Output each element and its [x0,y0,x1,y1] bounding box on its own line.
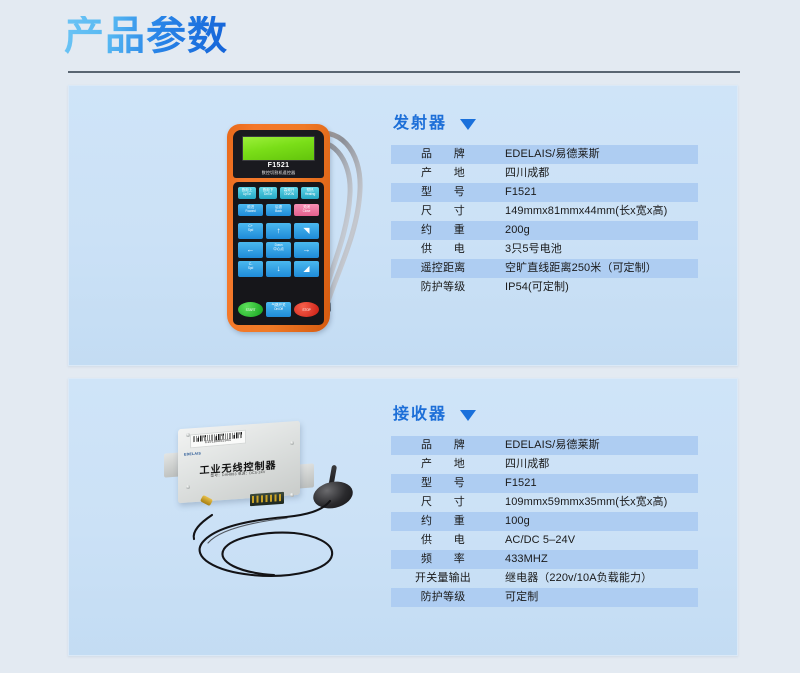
remote-model-text: F1521 [268,162,290,169]
transmitter-heading-text: 发射器 [393,116,447,132]
table-row: 产地 四川成都 [391,164,698,183]
key-close[interactable]: 关闭 Close [294,204,319,216]
key-label-en: Spd [238,228,263,232]
stop-label: STOP [294,303,319,317]
spec-key: 供电 [391,240,495,259]
spec-value: 可定制 [495,588,698,607]
spec-key: 防护等级 [391,588,495,607]
table-row: 产地 四川成都 [391,455,698,474]
spec-key: 品牌 [391,436,495,455]
table-row: 型号 F1521 [391,474,698,493]
receiver-device-image: E19100002941 EDELAIS 工业无线控制器 型号：DAH883 电… [154,419,394,609]
table-row: 防护等级 可定制 [391,588,698,607]
spec-key: 防护等级 [391,278,495,297]
spec-key: 约重 [391,512,495,531]
key-label-en: Heating [301,192,319,196]
key-diag-up-right[interactable]: ◥ [294,223,319,239]
table-row: 供电 AC/DC 5–24V [391,531,698,550]
spec-value: F1521 [495,183,698,202]
receiver-heading-text: 接收器 [393,407,447,423]
receiver-spec-block: 接收器 品牌 EDELAIS/易德莱斯 产地 四川成都 型号 F1521 尺寸 [391,407,721,607]
triangle-down-icon [460,119,476,130]
spec-value: 四川成都 [495,455,698,474]
arrow-left-icon: ← [238,243,263,257]
spec-key: 供电 [391,531,495,550]
arrow-right-icon: → [294,243,319,257]
key-label-en: Back [266,209,291,213]
key-forward[interactable]: 前进 Foward [238,204,263,216]
spec-key: 型号 [391,474,495,493]
page-header: 产品参数 [0,0,800,85]
spec-value: F1521 [495,474,698,493]
start-label: START [238,303,263,317]
table-row: 尺寸 149mmx81mmx44mm(长x宽x高) [391,202,698,221]
remote-display-bezel: F1521 数控切割机遥控器 [233,130,324,178]
table-row: 供电 3只5号电池 [391,240,698,259]
receiver-heading: 接收器 [391,407,721,423]
key-arrow-down[interactable]: ↓ [266,261,291,277]
key-arrow-left[interactable]: ← [238,242,263,258]
spec-value: 四川成都 [495,164,698,183]
transmitter-panel: F1521 数控切割机遥控器 割炬上 UpTor 割炬下 DnTor [68,85,738,366]
start-button[interactable]: START [238,302,263,317]
spec-value: EDELAIS/易德莱斯 [495,436,698,455]
spec-key: 型号 [391,183,495,202]
arrow-up-icon: ↑ [266,224,291,238]
diagonal-down-icon: ◢ [294,262,319,276]
table-row: 尺寸 109mmx59mmx35mm(长x宽x高) [391,493,698,512]
remote-body: F1521 数控切割机遥控器 割炬上 UpTor 割炬下 DnTor [227,124,330,332]
key-diag-down-right[interactable]: ◢ [294,261,319,277]
spec-value: 200g [495,221,698,240]
table-row: 品牌 EDELAIS/易德莱斯 [391,436,698,455]
lcd-screen [242,136,315,161]
table-row: 约重 100g [391,512,698,531]
transmitter-spec-block: 发射器 品牌 EDELAIS/易德莱斯 产地 四川成都 型号 F1521 尺寸 [391,116,721,297]
key-label-en: DnTor [259,192,277,196]
table-row: 防护等级 IP54(可定制) [391,278,698,297]
transmitter-heading: 发射器 [391,116,721,132]
key-hf-on[interactable]: 高频开 ON/ON [280,187,298,199]
receiver-panel: E19100002941 EDELAIS 工业无线控制器 型号：DAH883 电… [68,378,738,656]
key-label-en: Close [294,209,319,213]
table-row: 频率 433MHZ [391,550,698,569]
keypad-row-functions: 割炬上 UpTor 割炬下 DnTor 高频开 ON/ON 预热 Heating [238,187,319,199]
title-divider [68,71,740,73]
antenna-cable-icon [154,419,394,609]
key-label-en: ON/ON [280,192,298,196]
table-row: 约重 200g [391,221,698,240]
transmitter-device-image: F1521 数控切割机遥控器 割炬上 UpTor 割炬下 DnTor [154,106,369,351]
spec-key: 尺寸 [391,202,495,221]
key-back[interactable]: 后退 Back [266,204,291,216]
table-row: 遥控距离 空旷直线距离250米（可定制） [391,259,698,278]
table-row: 型号 F1521 [391,183,698,202]
table-row: 品牌 EDELAIS/易德莱斯 [391,145,698,164]
key-label-en: Spd [238,266,263,270]
spec-value: 433MHZ [495,550,698,569]
arrow-down-icon: ↓ [266,262,291,276]
transmitter-spec-table: 品牌 EDELAIS/易德莱斯 产地 四川成都 型号 F1521 尺寸 149m… [391,145,698,297]
table-row: 开关量输出 继电器（220v/10A负载能力） [391,569,698,588]
key-arrow-up[interactable]: ↑ [266,223,291,239]
keypad-row-start-stop: START 气路开关 On/Off STOP [238,302,319,317]
spec-value: IP54(可定制) [495,278,698,297]
spec-key: 开关量输出 [391,569,495,588]
spec-value: 空旷直线距离250米（可定制） [495,259,698,278]
key-label-cn: 中心点 [266,247,291,251]
spec-key: 尺寸 [391,493,495,512]
spec-value: 109mmx59mmx35mm(长x宽x高) [495,493,698,512]
key-speed-up[interactable]: C+ Spd [238,223,263,239]
key-gas-switch[interactable]: 气路开关 On/Off [266,302,291,317]
spec-key: 品牌 [391,145,495,164]
spec-value: 149mmx81mmx44mm(长x宽x高) [495,202,698,221]
keypad-direction-grid: C+ Spd ↑ ◥ ← Down 中心点 [238,223,319,277]
key-center-point[interactable]: Down 中心点 [266,242,291,258]
keypad-row-motion: 前进 Foward 后退 Back 关闭 Close [238,204,319,216]
spec-key: 产地 [391,164,495,183]
diagonal-up-icon: ◥ [294,224,319,238]
spec-value: EDELAIS/易德莱斯 [495,145,698,164]
spec-key: 约重 [391,221,495,240]
spec-value: AC/DC 5–24V [495,531,698,550]
page-title: 产品参数 [64,16,228,56]
remote-keypad: 割炬上 UpTor 割炬下 DnTor 高频开 ON/ON 预热 Heating [233,182,324,325]
spec-key: 频率 [391,550,495,569]
key-label-en: On/Off [266,307,291,311]
spec-value: 3只5号电池 [495,240,698,259]
key-label-en: Foward [238,209,263,213]
remote-model-label: F1521 数控切割机遥控器 [233,162,324,176]
key-up-torch[interactable]: 割炬上 UpTor [238,187,256,199]
spec-key: 遥控距离 [391,259,495,278]
key-down-torch[interactable]: 割炬下 DnTor [259,187,277,199]
stop-button[interactable]: STOP [294,302,319,317]
key-preheat[interactable]: 预热 Heating [301,187,319,199]
remote-model-subtext: 数控切割机遥控器 [233,170,324,176]
key-speed-down[interactable]: C- Spd [238,261,263,277]
spec-value: 100g [495,512,698,531]
spec-value: 继电器（220v/10A负载能力） [495,569,698,588]
key-label-en: UpTor [238,192,256,196]
key-arrow-right[interactable]: → [294,242,319,258]
triangle-down-icon [460,410,476,421]
receiver-spec-table: 品牌 EDELAIS/易德莱斯 产地 四川成都 型号 F1521 尺寸 109m… [391,436,698,607]
spec-key: 产地 [391,455,495,474]
